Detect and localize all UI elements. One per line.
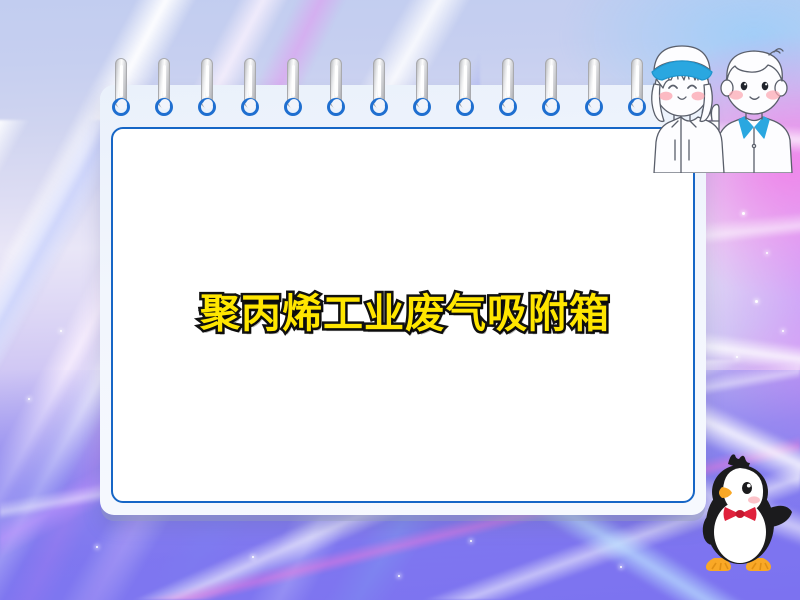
spiral-ring (329, 58, 343, 116)
spiral-ring-loop (585, 98, 603, 116)
spiral-ring-loop (155, 98, 173, 116)
slide-title: 聚丙烯工业废气吸附箱 (200, 281, 610, 339)
spiral-ring (587, 58, 601, 116)
spiral-ring-loop (413, 98, 431, 116)
spiral-ring (544, 58, 558, 116)
spiral-ring (501, 58, 515, 116)
spiral-ring (200, 58, 214, 116)
spiral-ring-loop (112, 98, 130, 116)
spiral-ring (630, 58, 644, 116)
spiral-ring-loop (241, 98, 259, 116)
cartoon-penguin-icon (692, 452, 796, 578)
spiral-ring (157, 58, 171, 116)
spiral-ring-loop (456, 98, 474, 116)
spiral-ring (243, 58, 257, 116)
spiral-ring-loop (370, 98, 388, 116)
spiral-ring-loop (198, 98, 216, 116)
cartoon-students-icon (648, 28, 800, 173)
notebook-card: 聚丙烯工业废气吸附箱 (100, 85, 706, 515)
spiral-ring-loop (542, 98, 560, 116)
spiral-ring-loop (628, 98, 646, 116)
spiral-ring (372, 58, 386, 116)
spiral-ring (286, 58, 300, 116)
spiral-ring-loop (499, 98, 517, 116)
spiral-ring-loop (327, 98, 345, 116)
spiral-binding (100, 58, 706, 118)
spiral-ring (415, 58, 429, 116)
spiral-ring (458, 58, 472, 116)
title-container: 聚丙烯工业废气吸附箱 (113, 281, 697, 339)
spiral-ring (114, 58, 128, 116)
slide-canvas: 聚丙烯工业废气吸附箱 (0, 0, 800, 600)
paper-sheet: 聚丙烯工业废气吸附箱 (111, 127, 695, 503)
spiral-ring-loop (284, 98, 302, 116)
